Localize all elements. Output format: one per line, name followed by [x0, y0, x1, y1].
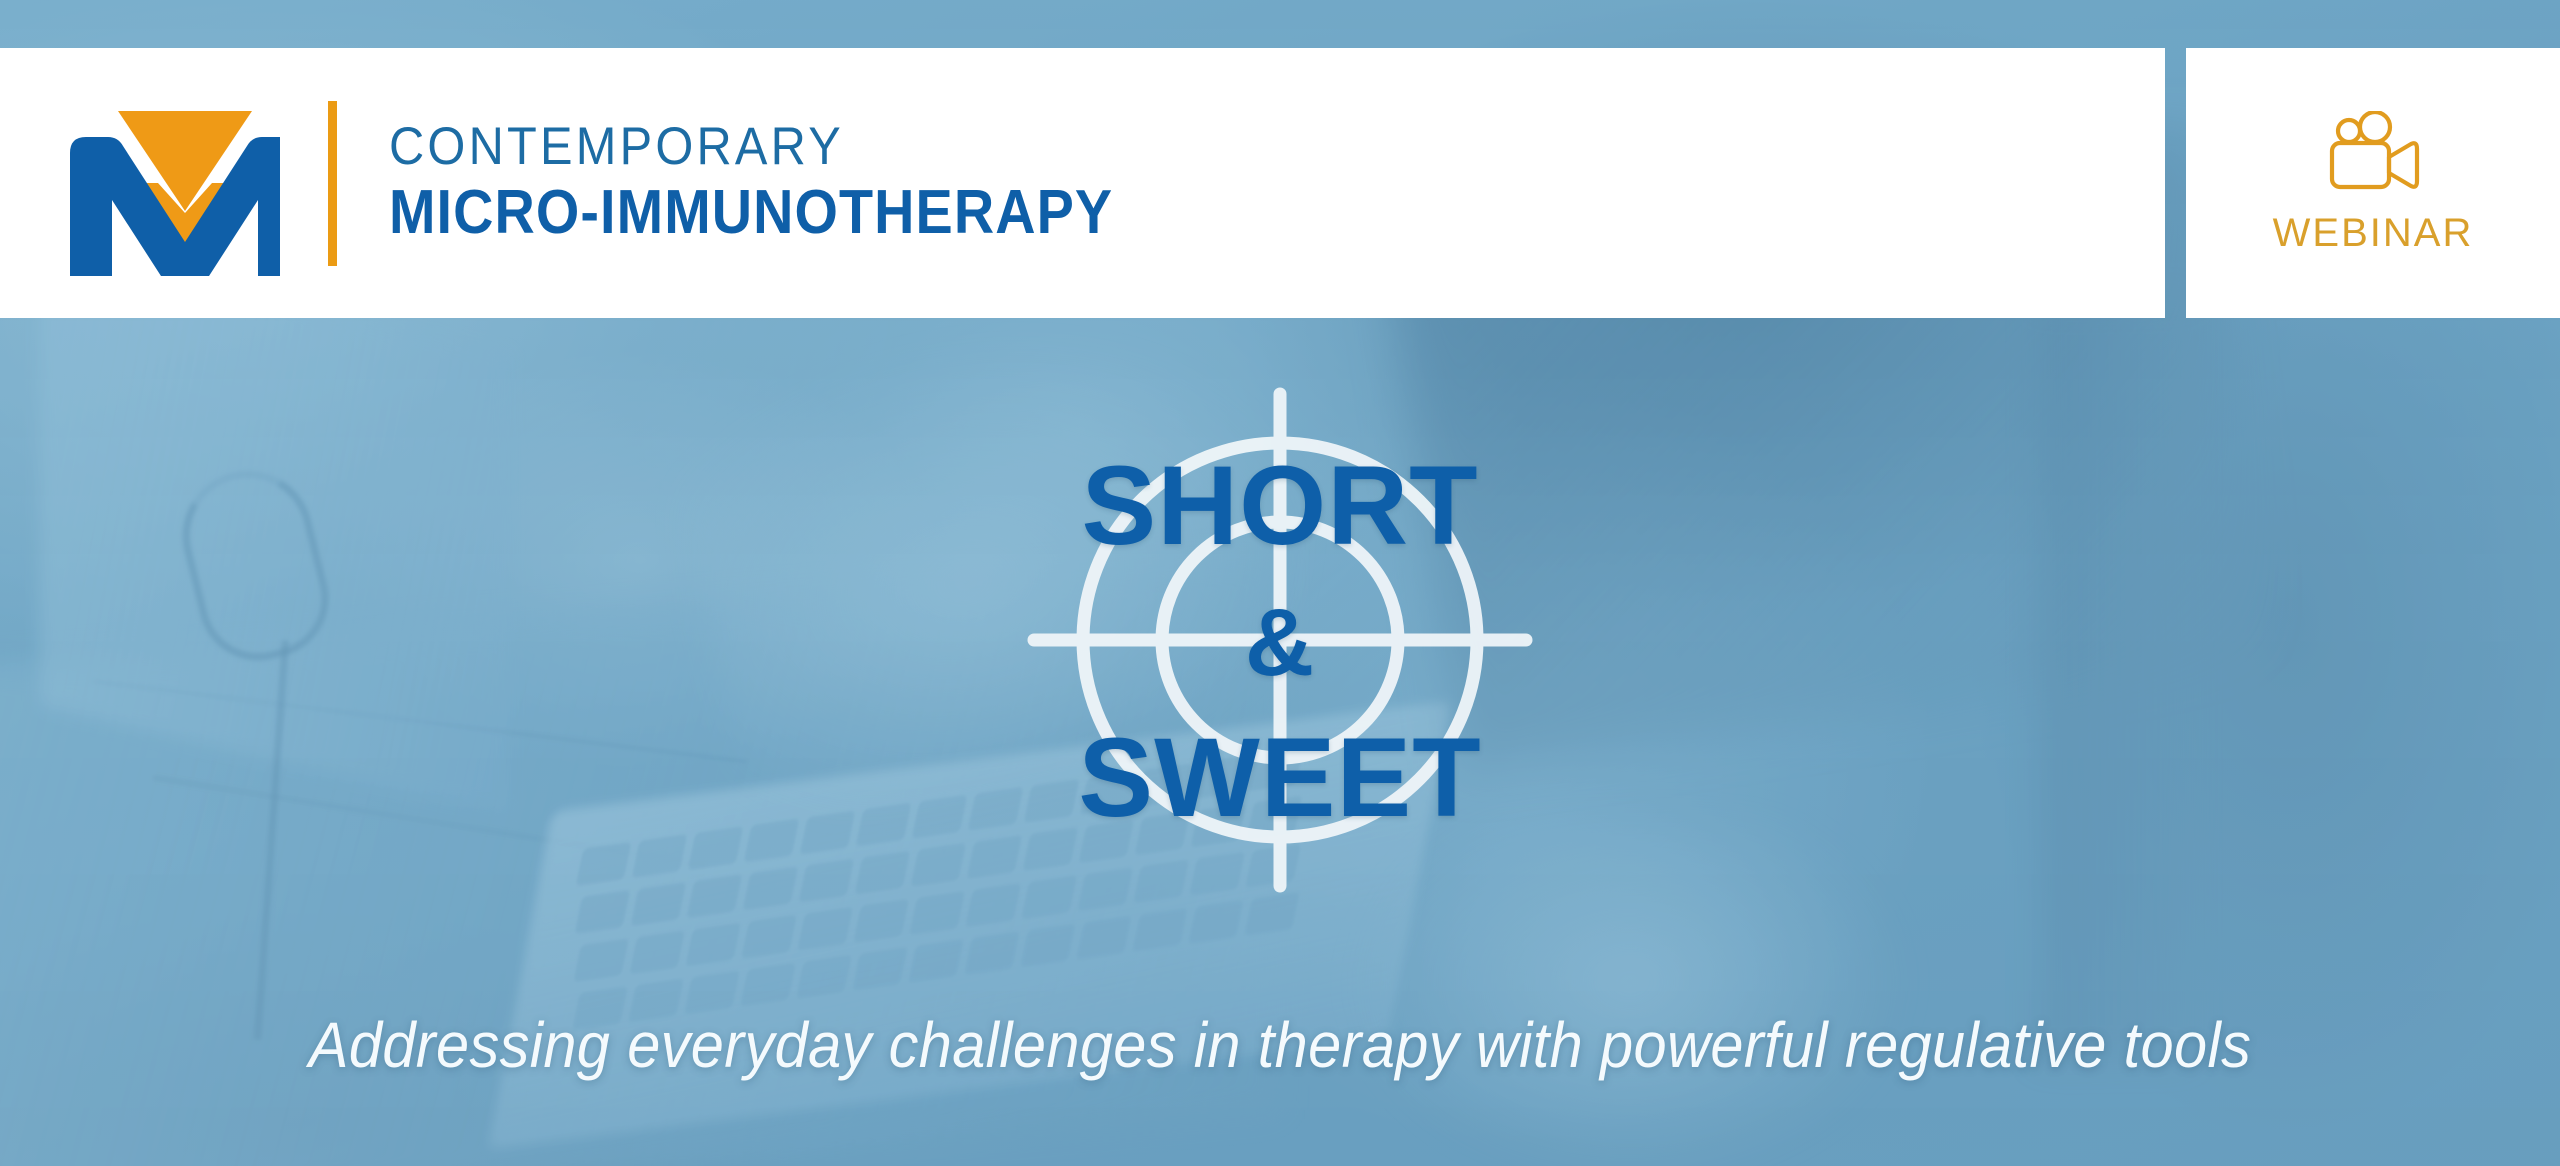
brand-line-1: CONTEMPORARY [389, 119, 1129, 174]
video-camera-icon [2318, 111, 2428, 193]
headline-line-1: SHORT [0, 450, 2560, 562]
brand-logo[interactable]: CONTEMPORARY MICRO-IMMUNOTHERAPY [62, 91, 1194, 276]
headline-line-2: & [0, 595, 2560, 691]
tagline: Addressing everyday challenges in therap… [90, 1008, 2471, 1082]
mi-monogram-logo-icon [62, 91, 280, 276]
logo-divider [328, 101, 337, 266]
webinar-label: WEBINAR [2273, 211, 2474, 256]
header-bar: CONTEMPORARY MICRO-IMMUNOTHERAPY [0, 48, 2165, 318]
logo-wordmark: CONTEMPORARY MICRO-IMMUNOTHERAPY [389, 119, 1194, 247]
brand-line-2: MICRO-IMMUNOTHERAPY [389, 180, 1113, 247]
headline-block: SHORT & SWEET [0, 350, 2560, 970]
webinar-badge[interactable]: WEBINAR [2186, 48, 2560, 318]
headline-line-3: SWEET [0, 722, 2560, 834]
webinar-banner: CONTEMPORARY MICRO-IMMUNOTHERAPY WEBINAR [0, 0, 2560, 1166]
